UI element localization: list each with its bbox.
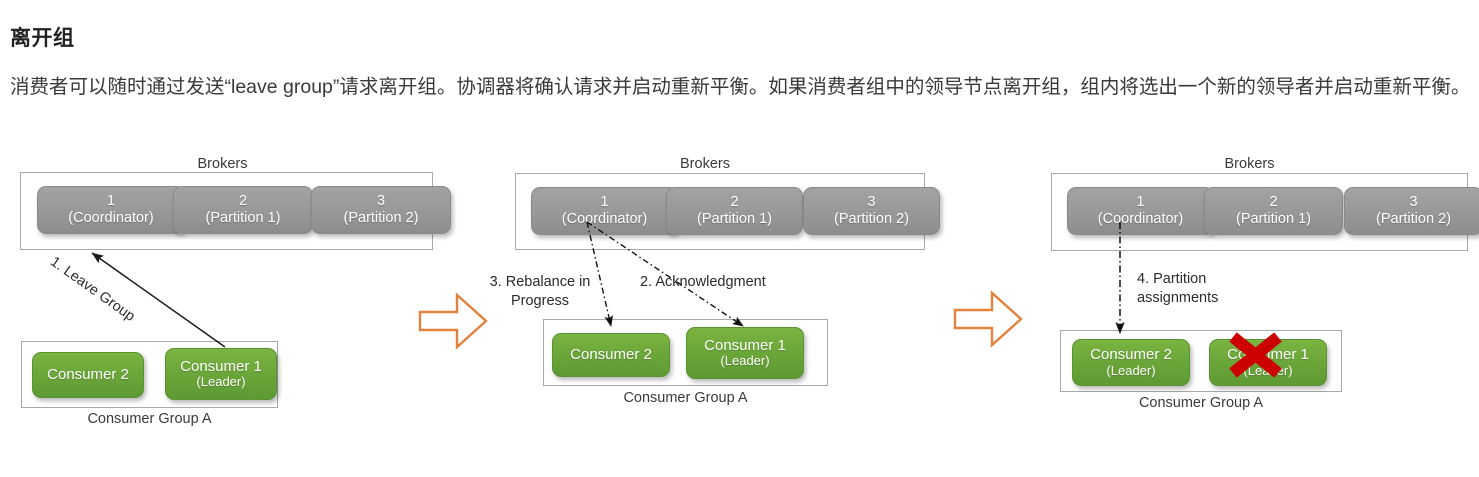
broker-id: 2 bbox=[730, 194, 738, 211]
brokers-title-panel1: Brokers bbox=[0, 156, 445, 172]
broker-node-3-panel2[interactable]: 3 (Partition 2) bbox=[803, 187, 940, 235]
broker-role: (Partition 2) bbox=[834, 211, 909, 228]
broker-id: 1 bbox=[600, 194, 608, 211]
diagram-panel-leave-group: Brokers 1 (Coordinator) 2 (Partition 1) … bbox=[0, 150, 445, 440]
broker-node-2-panel2[interactable]: 2 (Partition 1) bbox=[666, 187, 803, 235]
consumer-group-container-panel1: Consumer 2 Consumer 1 (Leader) bbox=[21, 341, 278, 408]
broker-id: 3 bbox=[867, 194, 875, 211]
consumer-role: (Leader) bbox=[1243, 364, 1292, 379]
broker-node-1-panel2[interactable]: 1 (Coordinator) bbox=[531, 187, 678, 235]
broker-role: (Coordinator) bbox=[1098, 211, 1183, 228]
step-label-acknowledgment: 2. Acknowledgment bbox=[640, 273, 766, 292]
consumer-group-container-panel3: Consumer 2 (Leader) Consumer 1 (Leader) bbox=[1060, 330, 1342, 392]
diagram-panel-rebalance: Brokers 1 (Coordinator) 2 (Partition 1) … bbox=[470, 150, 940, 440]
consumer-name: Consumer 2 bbox=[47, 366, 129, 383]
broker-node-2-panel3[interactable]: 2 (Partition 1) bbox=[1204, 187, 1343, 235]
flow-arrow-2-to-3 bbox=[952, 288, 1024, 350]
broker-id: 3 bbox=[377, 193, 385, 210]
broker-role: (Coordinator) bbox=[562, 211, 647, 228]
broker-node-2-panel1[interactable]: 2 (Partition 1) bbox=[173, 186, 313, 234]
broker-id: 2 bbox=[239, 193, 247, 210]
broker-node-3-panel3[interactable]: 3 (Partition 2) bbox=[1344, 187, 1479, 235]
brokers-container-panel2: 1 (Coordinator) 2 (Partition 1) 3 (Parti… bbox=[515, 173, 925, 250]
consumer-group-container-panel2: Consumer 2 Consumer 1 (Leader) bbox=[543, 319, 828, 386]
consumer-node-2-panel2[interactable]: Consumer 2 bbox=[552, 333, 670, 377]
diagram-panel-partition-assignments: Brokers 1 (Coordinator) 2 (Partition 1) … bbox=[1020, 150, 1479, 440]
broker-role: (Partition 2) bbox=[344, 210, 419, 227]
broker-role: (Partition 2) bbox=[1376, 211, 1451, 228]
consumer-node-1-panel1[interactable]: Consumer 1 (Leader) bbox=[165, 348, 277, 400]
consumer-name: Consumer 2 bbox=[1090, 346, 1172, 363]
consumer-name: Consumer 1 bbox=[180, 358, 262, 375]
consumer-name: Consumer 1 bbox=[704, 337, 786, 354]
consumer-name: Consumer 1 bbox=[1227, 346, 1309, 363]
brokers-title-panel3: Brokers bbox=[1020, 156, 1479, 172]
broker-role: (Partition 1) bbox=[697, 211, 772, 228]
article-text-block: 离开组 消费者可以随时通过发送“leave group”请求离开组。协调器将确认… bbox=[0, 0, 1479, 105]
broker-id: 1 bbox=[1136, 194, 1144, 211]
broker-role: (Coordinator) bbox=[68, 210, 153, 227]
broker-role: (Partition 1) bbox=[206, 210, 281, 227]
broker-node-3-panel1[interactable]: 3 (Partition 2) bbox=[311, 186, 451, 234]
consumer-group-label-panel3: Consumer Group A bbox=[1060, 395, 1342, 411]
consumer-name: Consumer 2 bbox=[570, 346, 652, 363]
consumer-group-label-panel2: Consumer Group A bbox=[543, 390, 828, 406]
broker-node-1-panel3[interactable]: 1 (Coordinator) bbox=[1067, 187, 1214, 235]
brokers-container-panel3: 1 (Coordinator) 2 (Partition 1) 3 (Parti… bbox=[1051, 173, 1468, 251]
consumer-node-2-panel1[interactable]: Consumer 2 bbox=[32, 352, 144, 398]
consumer-node-2-panel3[interactable]: Consumer 2 (Leader) bbox=[1072, 339, 1190, 386]
consumer-role: (Leader) bbox=[1106, 364, 1155, 379]
brokers-title-panel2: Brokers bbox=[470, 156, 940, 172]
step-label-leave-group: 1. Leave Group bbox=[46, 253, 138, 327]
broker-id: 2 bbox=[1269, 194, 1277, 211]
consumer-node-1-panel3[interactable]: Consumer 1 (Leader) bbox=[1209, 339, 1327, 386]
step-label-partition-assignments: 4. Partition assignments bbox=[1137, 270, 1218, 308]
broker-node-1-panel1[interactable]: 1 (Coordinator) bbox=[37, 186, 185, 234]
broker-role: (Partition 1) bbox=[1236, 211, 1311, 228]
broker-id: 1 bbox=[107, 193, 115, 210]
consumer-role: (Leader) bbox=[720, 354, 769, 369]
page-title: 离开组 bbox=[10, 22, 1471, 52]
consumer-node-1-panel2[interactable]: Consumer 1 (Leader) bbox=[686, 327, 804, 379]
consumer-role: (Leader) bbox=[196, 375, 245, 390]
consumer-group-label-panel1: Consumer Group A bbox=[21, 411, 278, 427]
article-paragraph: 消费者可以随时通过发送“leave group”请求离开组。协调器将确认请求并启… bbox=[10, 70, 1471, 105]
right-arrow-icon bbox=[952, 288, 1024, 350]
broker-id: 3 bbox=[1409, 194, 1417, 211]
step-label-rebalance: 3. Rebalance in Progress bbox=[480, 273, 600, 311]
brokers-container-panel1: 1 (Coordinator) 2 (Partition 1) 3 (Parti… bbox=[20, 172, 433, 250]
leave-group-diagram: Brokers 1 (Coordinator) 2 (Partition 1) … bbox=[0, 150, 1479, 440]
